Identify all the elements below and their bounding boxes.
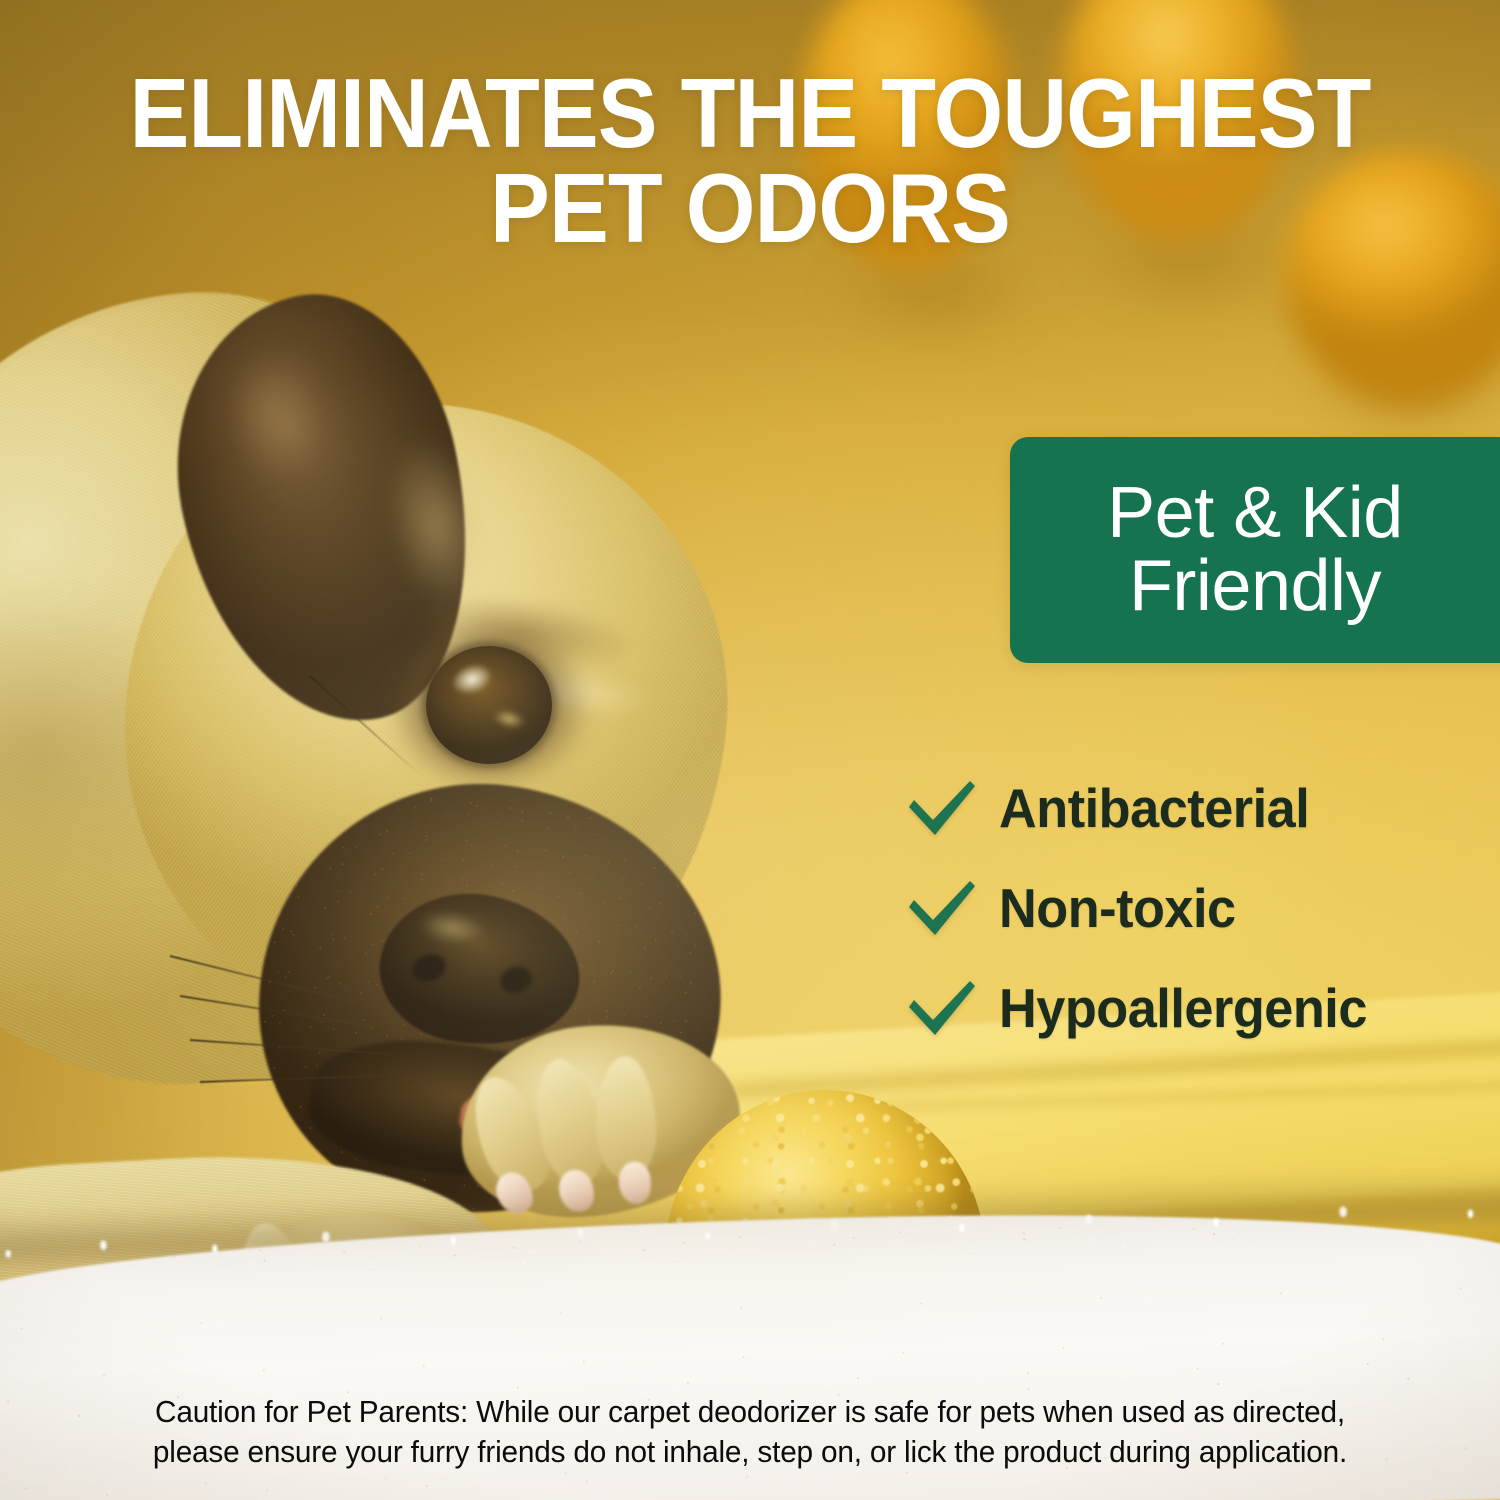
check-icon	[905, 877, 979, 939]
feature-label: Non-toxic	[999, 876, 1236, 940]
feature-label: Hypoallergenic	[999, 976, 1367, 1040]
headline: ELIMINATES THE TOUGHEST PET ODORS	[64, 66, 1437, 256]
caution-caption: Caution for Pet Parents: While our carpe…	[68, 1392, 1431, 1473]
check-icon	[905, 777, 979, 839]
product-banner: ELIMINATES THE TOUGHEST PET ODORS Pet & …	[0, 0, 1500, 1500]
feature-item-antibacterial: Antibacterial	[905, 758, 1500, 858]
pet-kid-friendly-badge: Pet & Kid Friendly	[1010, 437, 1500, 663]
feature-item-non-toxic: Non-toxic	[905, 858, 1500, 958]
check-icon	[905, 977, 979, 1039]
dog-toe	[594, 1055, 658, 1181]
feature-list: Antibacterial Non-toxic Hypoallergenic	[905, 758, 1500, 1058]
feature-label: Antibacterial	[999, 776, 1309, 840]
badge-label: Pet & Kid Friendly	[1107, 477, 1413, 624]
feature-item-hypoallergenic: Hypoallergenic	[905, 958, 1500, 1058]
